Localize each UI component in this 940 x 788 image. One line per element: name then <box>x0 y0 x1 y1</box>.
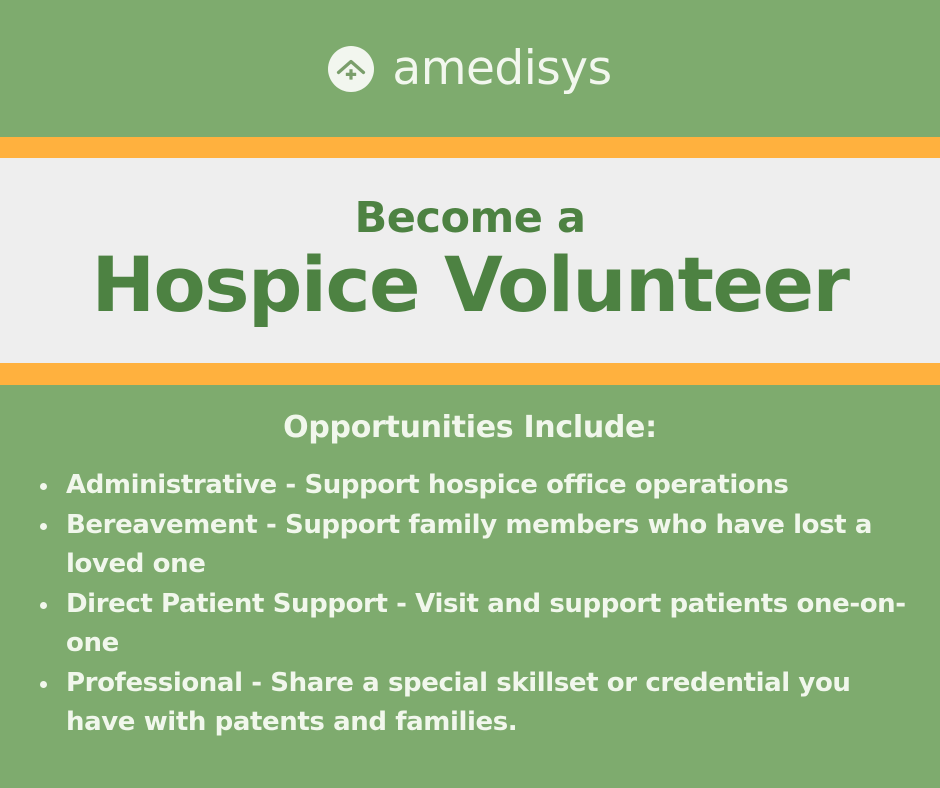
list-item-label: Bereavement - Support family members who… <box>66 510 872 580</box>
list-item-label: Professional - Share a special skillset … <box>66 668 851 738</box>
opportunities-list: Administrative - Support hospice office … <box>16 466 924 743</box>
house-plus-icon <box>328 46 374 92</box>
list-item: Professional - Share a special skillset … <box>30 664 914 743</box>
bullet-icon <box>40 483 47 490</box>
divider-orange-top <box>0 137 940 158</box>
list-item-label: Administrative - Support hospice office … <box>66 470 789 500</box>
header-band: amedisys <box>0 0 940 137</box>
list-item: Administrative - Support hospice office … <box>30 466 914 506</box>
page-title: Hospice Volunteer <box>91 246 848 324</box>
list-item-label: Direct Patient Support - Visit and suppo… <box>66 589 906 659</box>
list-item: Direct Patient Support - Visit and suppo… <box>30 585 914 664</box>
title-eyebrow: Become a <box>355 197 586 240</box>
list-item: Bereavement - Support family members who… <box>30 506 914 585</box>
bullet-icon <box>40 681 47 688</box>
title-panel: Become a Hospice Volunteer <box>0 158 940 363</box>
brand-logo: amedisys <box>328 45 611 92</box>
opportunities-heading: Opportunities Include: <box>16 411 924 444</box>
divider-orange-bottom <box>0 363 940 385</box>
poster: amedisys Become a Hospice Volunteer Oppo… <box>0 0 940 788</box>
opportunities-section: Opportunities Include: Administrative - … <box>0 385 940 788</box>
bullet-icon <box>40 523 47 530</box>
brand-name: amedisys <box>392 45 611 92</box>
bullet-icon <box>40 602 47 609</box>
